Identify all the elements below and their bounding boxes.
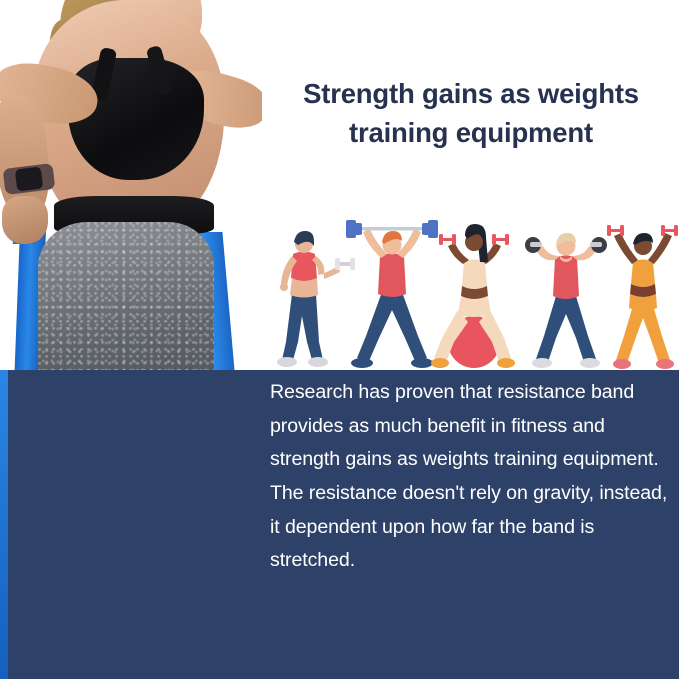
wrist-watch-face: [15, 166, 43, 191]
dumbbell-icon: [335, 258, 355, 270]
description-text: Research has proven that resistance band…: [270, 376, 670, 578]
exercise-illustration-strip: [262, 218, 679, 370]
dumbbell-icon-left: [439, 234, 456, 245]
page-title-line-1: Strength gains as weights: [303, 78, 639, 109]
figure-man-overhead-barbell-press: [346, 220, 438, 368]
page-title-line-2: training equipment: [349, 117, 593, 148]
figure-woman-arms-raised-dumbbells: [607, 225, 678, 369]
dumbbell-icon-right: [661, 225, 678, 236]
figure-woman-on-exercise-ball-dumbbells: [431, 224, 515, 368]
panel-accent-bar: [0, 370, 8, 679]
description-paragraph: Research has proven that resistance band…: [270, 376, 670, 578]
figure-person-shoulder-press-dumbbells: [525, 233, 607, 368]
promo-image: Strength gains as weights training equip…: [0, 0, 679, 679]
dumbbell-icon-right: [492, 234, 509, 245]
figure-woman-single-dumbbell-curl: [277, 231, 355, 367]
dumbbell-icon-left: [607, 225, 624, 236]
left-hand-gripping-band: [2, 196, 48, 244]
description-panel: Research has proven that resistance band…: [0, 370, 679, 679]
page-title: Strength gains as weights training equip…: [266, 74, 676, 152]
